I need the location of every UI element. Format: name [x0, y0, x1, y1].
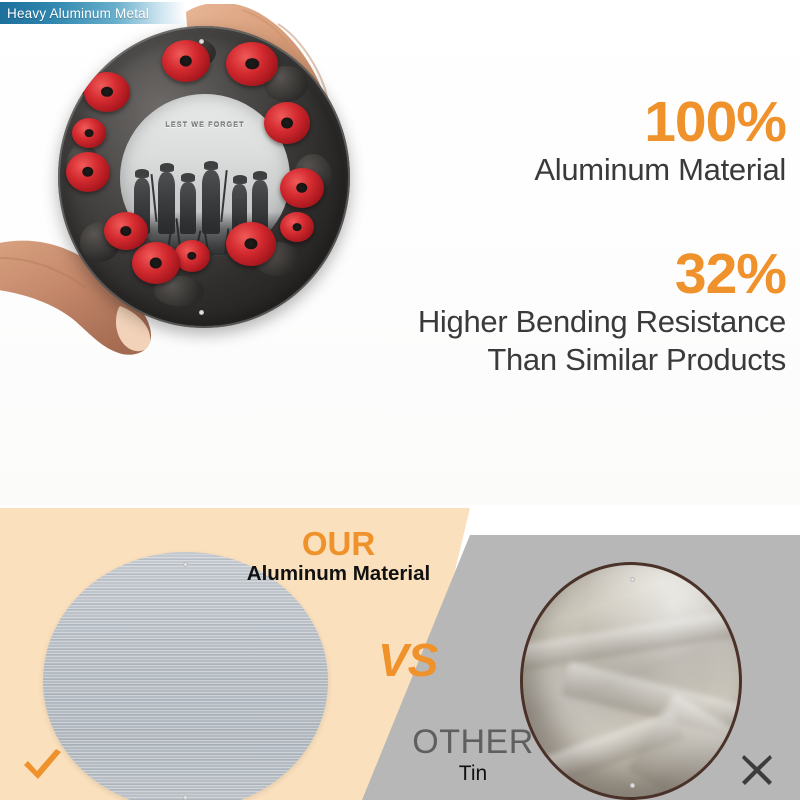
poppy-flower: [72, 118, 106, 148]
other-label-group: OTHER Tin: [378, 725, 568, 787]
poppy-flower: [66, 152, 110, 192]
aluminum-disc-sample: [43, 552, 328, 800]
stat-value: 100%: [534, 94, 786, 151]
poppy-flower: [84, 72, 130, 112]
mount-hole: [630, 577, 635, 582]
metal-disc: LEST WE FORGET: [58, 26, 350, 328]
poppy-flower: [264, 102, 310, 144]
mount-hole: [199, 310, 204, 315]
poppy-flower: [280, 212, 314, 242]
other-subtitle: Tin: [378, 760, 568, 787]
poppy-flower: [226, 222, 276, 266]
mount-hole: [183, 562, 188, 567]
product-image: LEST WE FORGET: [58, 26, 350, 328]
heavy-aluminum-badge: Heavy Aluminum Metal: [0, 2, 185, 24]
poppy-flower: [132, 242, 180, 284]
stat-caption-line2: Than Similar Products: [418, 341, 786, 379]
poppy-flower: [280, 168, 324, 208]
poppy-flower: [162, 40, 210, 82]
stat-caption-line1: Higher Bending Resistance: [418, 303, 786, 341]
stat-value: 32%: [418, 246, 786, 303]
our-title: OUR: [236, 527, 441, 560]
mount-hole: [183, 795, 188, 800]
stat-caption: Aluminum Material: [534, 151, 786, 189]
comparison-section: OUR Aluminum Material VS OTHER Tin: [0, 505, 800, 800]
product-infographic: Heavy Aluminum Metal: [0, 0, 800, 800]
stat-block-aluminum: 100% Aluminum Material: [534, 94, 786, 189]
versus-label: VS: [378, 633, 437, 687]
mount-hole: [199, 39, 204, 44]
our-subtitle: Aluminum Material: [236, 561, 441, 587]
x-icon: [740, 753, 774, 787]
other-title: OTHER: [378, 725, 568, 759]
mount-hole: [630, 783, 635, 788]
badge-label: Heavy Aluminum Metal: [7, 6, 149, 21]
check-icon: [22, 747, 64, 781]
poppy-flower: [104, 212, 148, 250]
top-feature-section: Heavy Aluminum Metal: [0, 0, 800, 505]
stat-block-bending: 32% Higher Bending Resistance Than Simil…: [418, 246, 786, 380]
poppy-flower: [226, 42, 278, 86]
our-label-group: OUR Aluminum Material: [236, 527, 441, 587]
